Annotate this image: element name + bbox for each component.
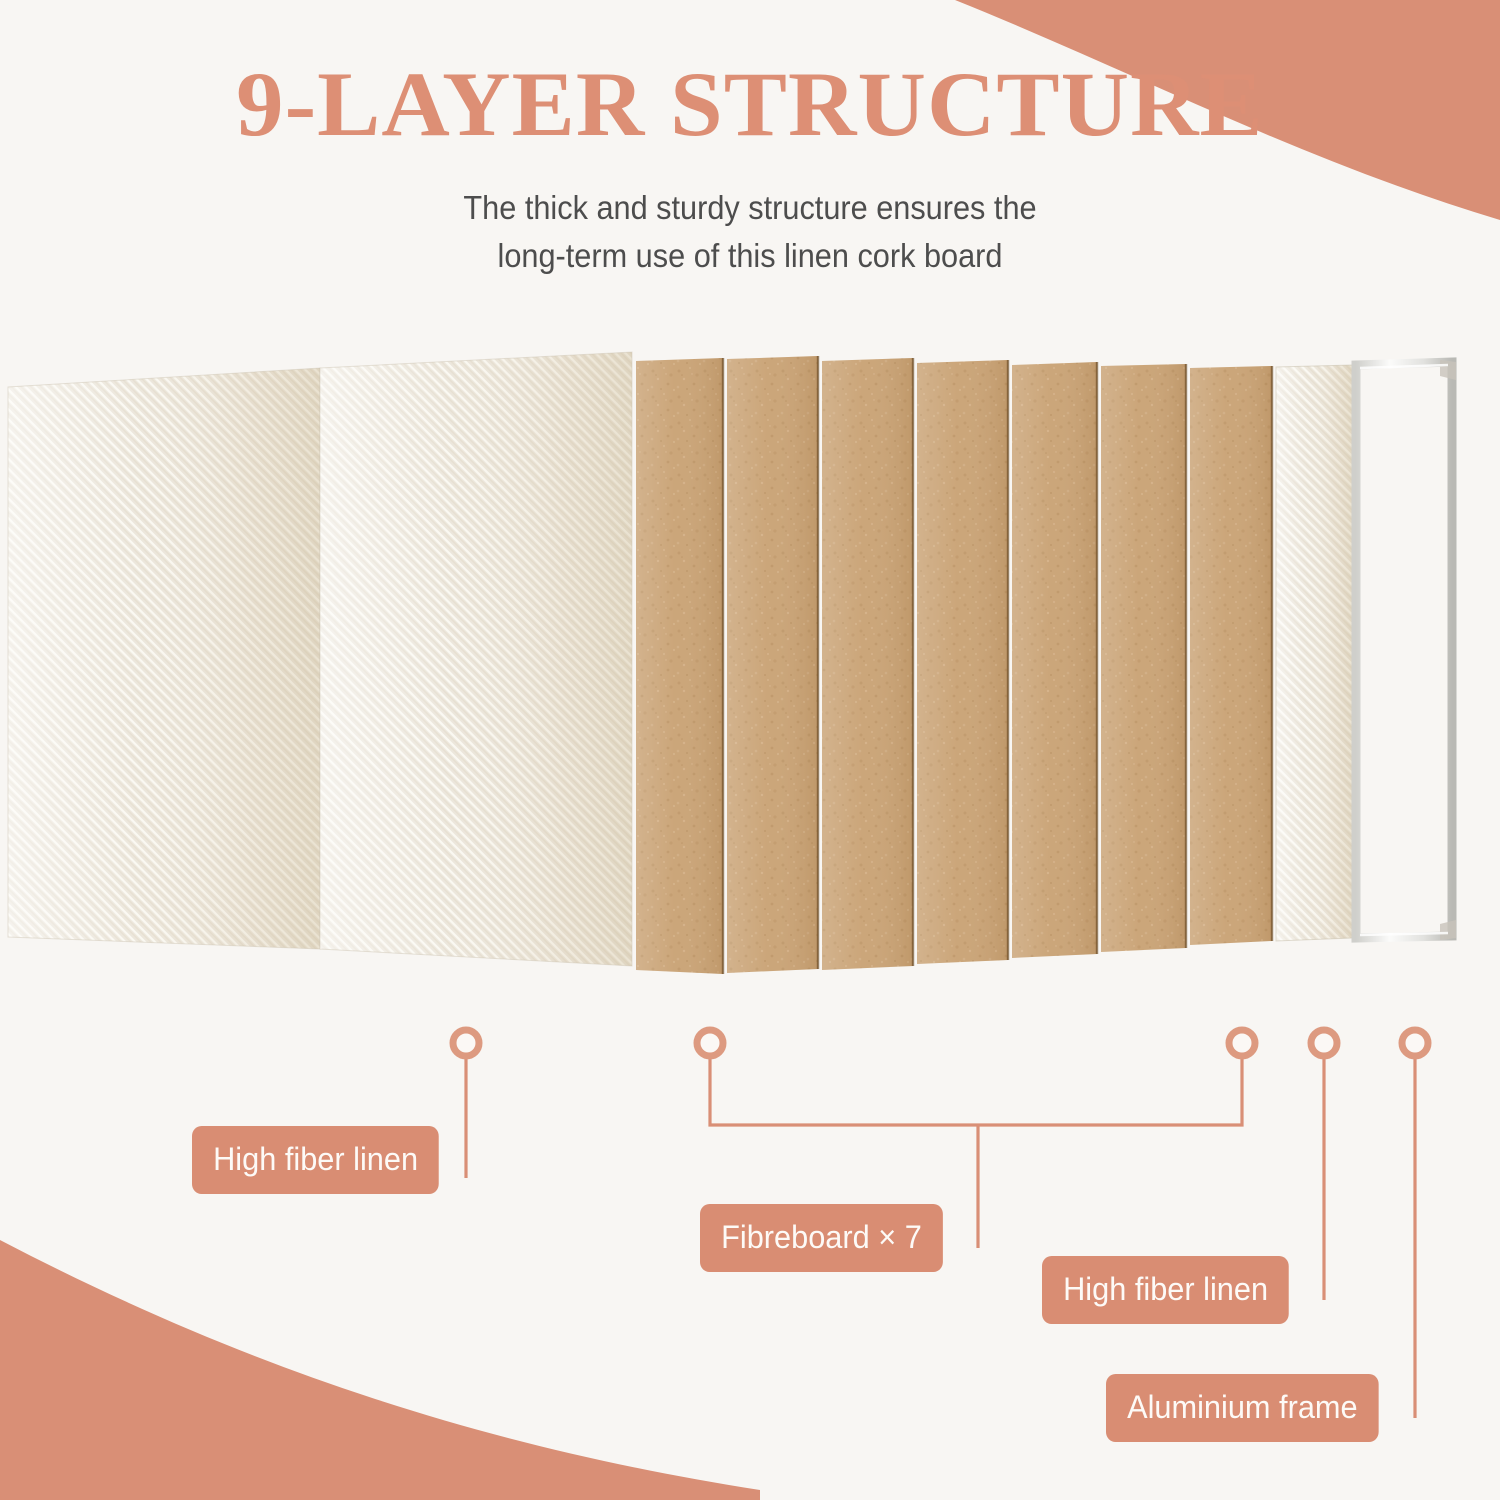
marker-linen-back [1311, 1030, 1337, 1056]
layer-linen-back [1276, 365, 1352, 941]
infographic-canvas: 9-LAYER STRUCTURE The thick and sturdy s… [0, 0, 1500, 1500]
marker-linen-front [453, 1030, 479, 1056]
callout-label-linen-back[interactable]: High fiber linen [1042, 1256, 1289, 1324]
layer-aluminium-frame [1356, 360, 1456, 940]
leader-fibreboard [710, 1043, 1242, 1125]
page-subtitle: The thick and sturdy structure ensures t… [332, 184, 1169, 280]
layer-fibreboard-1 [636, 358, 723, 974]
marker-fibreboard-left [697, 1030, 723, 1056]
callout-label-linen-front[interactable]: High fiber linen [192, 1126, 439, 1194]
header: 9-LAYER STRUCTURE The thick and sturdy s… [0, 58, 1500, 280]
subtitle-line-2: long-term use of this linen cork board [332, 232, 1169, 280]
page-title: 9-LAYER STRUCTURE [0, 58, 1500, 150]
subtitle-line-1: The thick and sturdy structure ensures t… [332, 184, 1169, 232]
layer-fibreboard-7 [1190, 366, 1272, 945]
layer-fibreboard-5 [1012, 362, 1097, 958]
layer-linen-front-2 [320, 352, 632, 966]
layer-fibreboard-6 [1101, 364, 1186, 952]
marker-alu-frame [1402, 1030, 1428, 1056]
callout-label-fibreboard[interactable]: Fibreboard × 7 [700, 1204, 943, 1272]
layer-fibreboard-4 [917, 360, 1008, 964]
layer-fibreboard-3 [822, 358, 913, 970]
marker-fibreboard-right [1229, 1030, 1255, 1056]
layer-linen-front-1 [8, 368, 320, 949]
callout-label-alu-frame[interactable]: Aluminium frame [1106, 1374, 1379, 1442]
exploded-layer-stack [0, 340, 1500, 1000]
layer-fibreboard-2 [727, 356, 818, 973]
